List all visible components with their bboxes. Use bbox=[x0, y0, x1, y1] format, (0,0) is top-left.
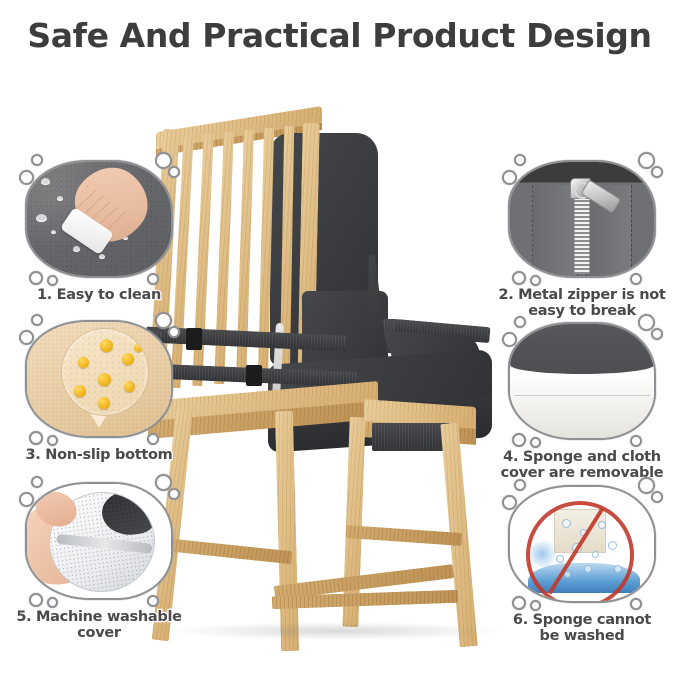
product-floor-shadow bbox=[172, 622, 502, 640]
sponge-icon bbox=[514, 395, 650, 396]
machine-washable-image bbox=[25, 482, 173, 600]
chair-stretcher-left bbox=[172, 539, 293, 564]
feature-4-frame bbox=[508, 322, 656, 440]
page-title: Safe And Practical Product Design bbox=[0, 16, 679, 55]
feature-callout-4: 4. Sponge and cloth cover are removable bbox=[497, 322, 667, 481]
backrest-strap-buckle bbox=[186, 328, 202, 350]
metal-zipper-image bbox=[508, 160, 656, 278]
feature-1-frame bbox=[25, 160, 173, 278]
feature-3-caption: 3. Non-slip bottom bbox=[14, 447, 184, 463]
chair-stretcher-right bbox=[346, 525, 463, 546]
feature-callout-3: 3. Non-slip bottom bbox=[14, 320, 184, 463]
front-anchor-strap bbox=[372, 423, 450, 451]
magnifier-icon bbox=[61, 328, 149, 416]
feature-callout-5: 5. Machine washable cover bbox=[14, 482, 184, 641]
feature-callout-6: 6. Sponge cannot be washed bbox=[497, 485, 667, 644]
sponge-and-cloth-image bbox=[508, 322, 656, 440]
cloth-cover-icon bbox=[510, 324, 654, 374]
seat-strap-buckle bbox=[246, 365, 262, 386]
feature-5-caption: 5. Machine washable cover bbox=[0, 609, 198, 641]
feature-4-caption: 4. Sponge and cloth cover are removable bbox=[485, 449, 679, 481]
feature-5-frame bbox=[25, 482, 173, 600]
feature-6-frame bbox=[508, 485, 656, 603]
non-slip-bottom-image bbox=[25, 320, 173, 438]
sponge-cannot-be-washed-image bbox=[508, 485, 656, 603]
feature-callout-1: 1. Easy to clean bbox=[14, 160, 184, 303]
easy-to-clean-image bbox=[25, 160, 173, 278]
prohibition-circle-icon bbox=[526, 501, 634, 603]
product-image bbox=[150, 105, 530, 650]
feature-6-caption: 6. Sponge cannot be washed bbox=[497, 612, 667, 644]
feature-1-caption: 1. Easy to clean bbox=[14, 287, 184, 303]
feature-2-frame bbox=[508, 160, 656, 278]
feature-3-frame bbox=[25, 320, 173, 438]
feature-callout-2: 2. Metal zipper is not easy to break bbox=[497, 160, 667, 319]
